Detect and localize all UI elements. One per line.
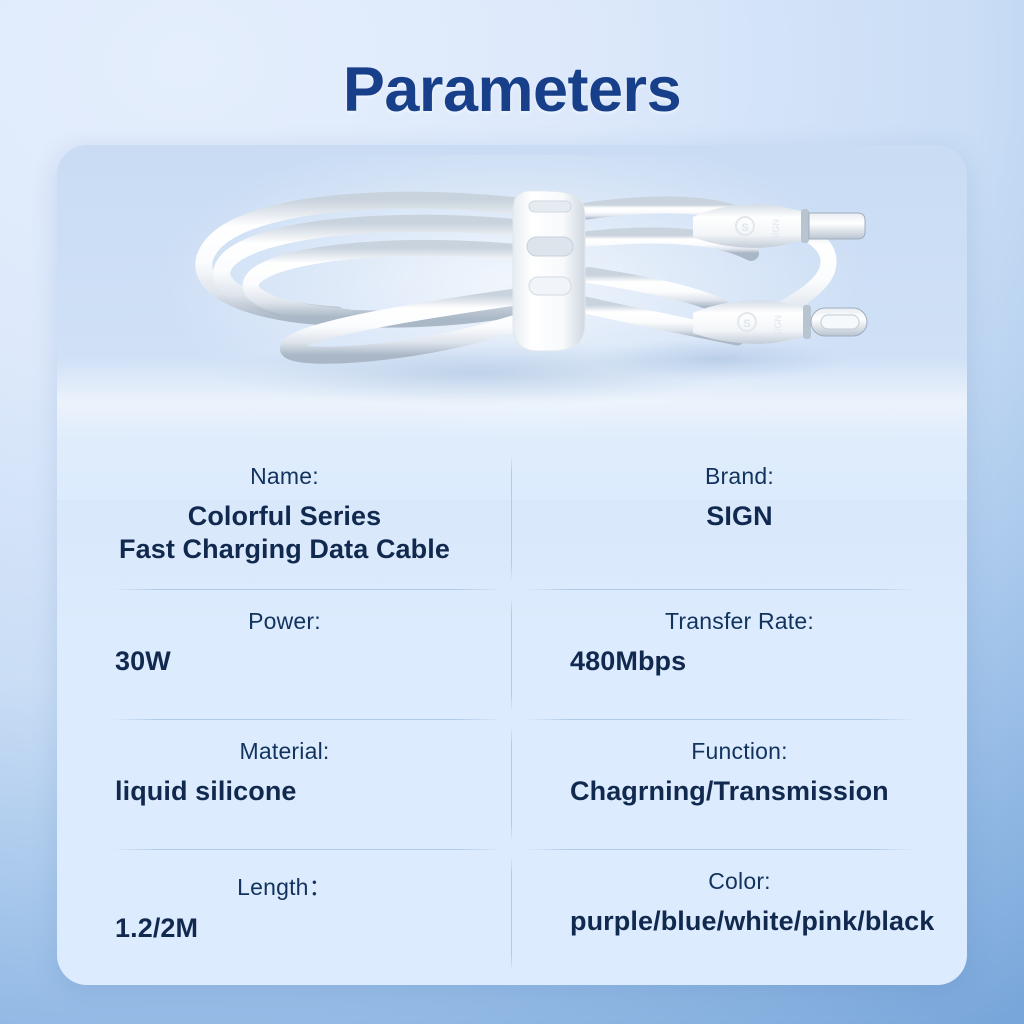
spec-cell-color: Color: purple/blue/white/pink/black <box>512 850 967 980</box>
spec-row: Power: 30W Transfer Rate: 480Mbps <box>57 590 967 720</box>
spec-label: Brand: <box>546 445 933 490</box>
row-divider <box>112 719 502 720</box>
cable-strap <box>513 191 585 351</box>
strap-slot-2 <box>527 237 573 256</box>
spec-cell-power: Power: 30W <box>57 590 512 720</box>
spec-value: liquid silicone <box>91 765 478 808</box>
column-divider <box>511 857 512 971</box>
spec-label: Name: <box>91 445 478 490</box>
strap-slot-1 <box>529 201 571 212</box>
spec-cell-transfer-rate: Transfer Rate: 480Mbps <box>512 590 967 720</box>
row-divider <box>112 849 502 850</box>
spec-label: Power: <box>91 590 478 635</box>
usb-c-connector: S SIGN <box>693 300 867 344</box>
spec-label: Material: <box>91 720 478 765</box>
spec-value: 1.2/2M <box>91 902 478 945</box>
lightning-connector: S SIGN <box>693 204 865 248</box>
specifications-grid: Name: Colorful Series Fast Charging Data… <box>57 445 967 985</box>
spec-label: Function: <box>546 720 933 765</box>
column-divider <box>511 727 512 841</box>
spec-value: Colorful Series Fast Charging Data Cable <box>91 490 478 566</box>
svg-text:SIGN: SIGN <box>773 315 783 337</box>
spec-label: Transfer Rate: <box>546 590 933 635</box>
cable-illustration: S SIGN S SIGN <box>57 145 967 465</box>
spec-row: Length： 1.2/2M Color: purple/blue/white/… <box>57 850 967 980</box>
spec-label: Length： <box>91 850 478 902</box>
spec-value: SIGN <box>546 490 933 533</box>
svg-text:S: S <box>743 318 750 330</box>
spec-value: 480Mbps <box>546 635 933 678</box>
spec-cell-material: Material: liquid silicone <box>57 720 512 850</box>
spec-value: Chagrning/Transmission <box>546 765 933 808</box>
product-image: S SIGN S SIGN <box>57 145 967 465</box>
spec-value: purple/blue/white/pink/black <box>546 895 933 938</box>
row-divider <box>525 849 915 850</box>
row-divider <box>112 589 502 590</box>
spec-cell-brand: Brand: SIGN <box>512 445 967 590</box>
svg-text:S: S <box>741 222 748 234</box>
spec-label: Color: <box>546 850 933 895</box>
spec-row: Name: Colorful Series Fast Charging Data… <box>57 445 967 590</box>
spec-cell-function: Function: Chagrning/Transmission <box>512 720 967 850</box>
spec-value-line: Fast Charging Data Cable <box>91 533 478 566</box>
column-divider <box>511 597 512 711</box>
column-divider <box>511 455 512 581</box>
spec-cell-name: Name: Colorful Series Fast Charging Data… <box>57 445 512 590</box>
cable-shadow-right <box>587 337 847 381</box>
page-title: Parameters <box>0 54 1024 126</box>
spec-cell-length: Length： 1.2/2M <box>57 850 512 980</box>
spec-value: 30W <box>91 635 478 678</box>
parameters-infographic: Parameters <box>0 0 1024 1024</box>
spec-row: Material: liquid silicone Function: Chag… <box>57 720 967 850</box>
strap-slot-3 <box>529 277 571 295</box>
spec-value-line: Colorful Series <box>91 500 478 533</box>
svg-text:SIGN: SIGN <box>771 219 781 241</box>
row-divider <box>525 589 915 590</box>
row-divider <box>525 719 915 720</box>
parameters-card: S SIGN S SIGN <box>57 145 967 985</box>
